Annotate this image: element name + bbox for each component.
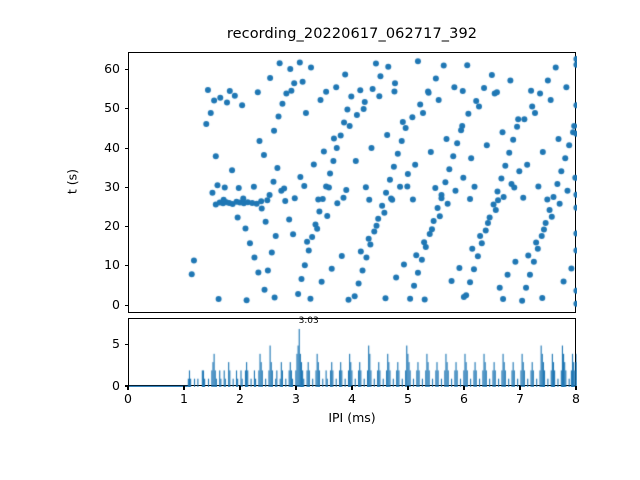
hist-xtick-label-7: 7 <box>500 391 540 406</box>
scatter-plot-canvas <box>129 53 577 314</box>
hist-ytick-label-5: 5 <box>82 336 120 351</box>
histogram-peak-label: 3.03 <box>299 316 319 326</box>
scatter-ytick-50 <box>125 108 129 109</box>
scatter-ytick-60 <box>125 69 129 70</box>
x-axis-label: IPI (ms) <box>128 410 576 425</box>
scatter-ytick-10 <box>125 265 129 266</box>
scatter-ytick-30 <box>125 187 129 188</box>
scatter-ytick-label-60: 60 <box>82 61 120 76</box>
matplotlib-figure: recording_20220617_062717_392 0102030405… <box>0 0 640 480</box>
hist-xtick-3 <box>295 386 296 390</box>
hist-xtick-2 <box>239 386 240 390</box>
hist-xtick-7 <box>519 386 520 390</box>
hist-xtick-label-6: 6 <box>444 391 484 406</box>
scatter-ytick-label-50: 50 <box>82 100 120 115</box>
scatter-ytick-label-30: 30 <box>82 179 120 194</box>
hist-xtick-label-1: 1 <box>164 391 204 406</box>
hist-xtick-label-4: 4 <box>332 391 372 406</box>
hist-xtick-1 <box>183 386 184 390</box>
scatter-ytick-label-40: 40 <box>82 140 120 155</box>
scatter-y-axis-label: t (s) <box>65 161 80 201</box>
hist-xtick-label-2: 2 <box>220 391 260 406</box>
hist-xtick-label-3: 3 <box>276 391 316 406</box>
scatter-plot-panel <box>128 52 576 313</box>
scatter-ytick-label-0: 0 <box>82 297 120 312</box>
hist-xtick-6 <box>463 386 464 390</box>
hist-xtick-5 <box>407 386 408 390</box>
scatter-ytick-20 <box>125 226 129 227</box>
hist-xtick-label-0: 0 <box>108 391 148 406</box>
hist-xtick-4 <box>351 386 352 390</box>
scatter-ytick-40 <box>125 148 129 149</box>
hist-xtick-0 <box>127 386 128 390</box>
histogram-canvas <box>129 319 577 387</box>
hist-ytick-5 <box>125 344 129 345</box>
scatter-ytick-0 <box>125 305 129 306</box>
figure-title: recording_20220617_062717_392 <box>128 26 576 42</box>
scatter-ytick-label-20: 20 <box>82 218 120 233</box>
histogram-panel <box>128 318 576 386</box>
hist-xtick-label-5: 5 <box>388 391 428 406</box>
hist-xtick-label-8: 8 <box>556 391 596 406</box>
hist-xtick-8 <box>575 386 576 390</box>
scatter-ytick-label-10: 10 <box>82 257 120 272</box>
